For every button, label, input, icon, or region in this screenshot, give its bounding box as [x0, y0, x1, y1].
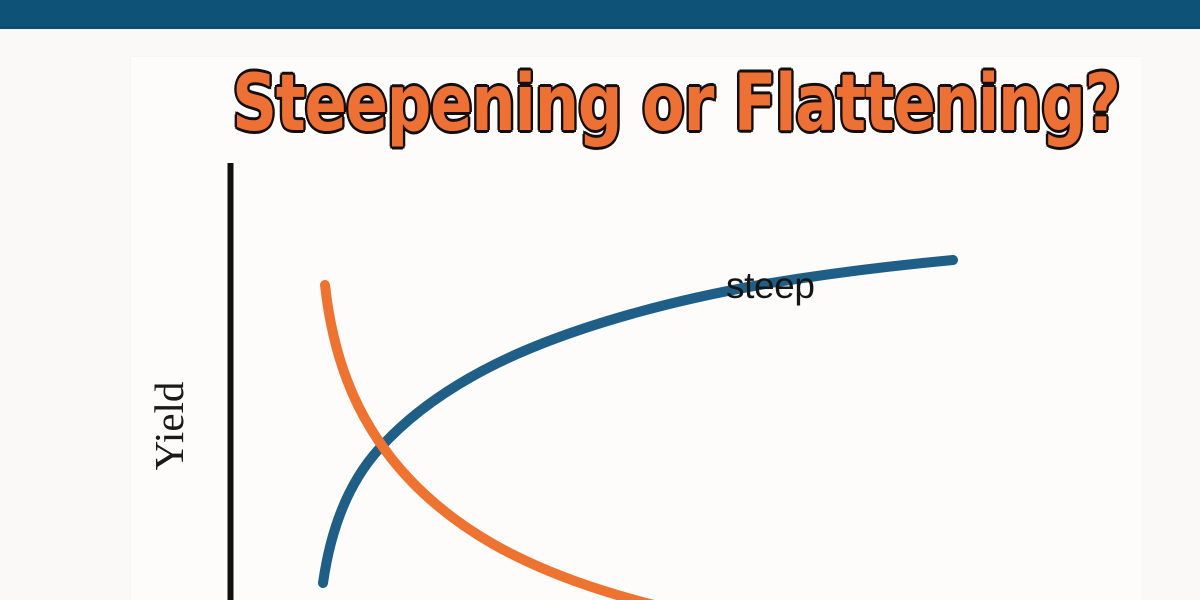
- site-header-bar: [0, 0, 1200, 29]
- chart-svg: [131, 57, 1142, 600]
- chart-plot-area: Yield steep: [131, 57, 1142, 600]
- series-line-steep: [323, 260, 953, 583]
- series-line-flat: [325, 285, 921, 600]
- y-axis-label: Yield: [145, 326, 193, 526]
- figure-card: Steepening or Flattening? Yield steep: [131, 57, 1142, 600]
- steep-annotation-label: steep: [726, 265, 815, 307]
